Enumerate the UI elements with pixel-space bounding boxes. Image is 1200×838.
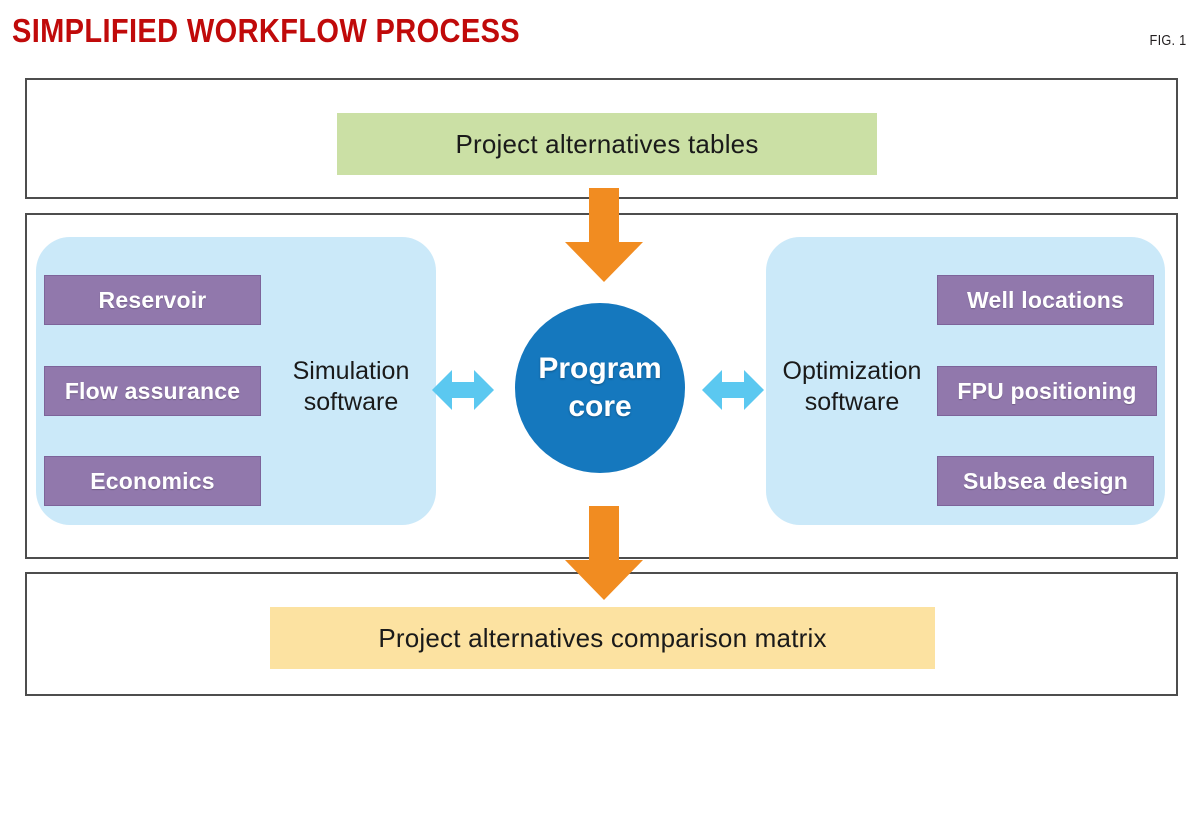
module-chip-subsea-design: Subsea design: [937, 456, 1154, 506]
module-chip-flow-assurance: Flow assurance: [44, 366, 261, 416]
down-arrow-input-to-core-icon: [565, 188, 643, 282]
program-core-node: Program core: [515, 303, 685, 473]
project-alternatives-comparison-matrix-box: Project alternatives comparison matrix: [270, 607, 935, 669]
down-arrow-core-to-output-icon: [565, 506, 643, 600]
project-alternatives-tables-box: Project alternatives tables: [337, 113, 877, 175]
module-chip-well-locations: Well locations: [937, 275, 1154, 325]
module-chip-fpu-positioning: FPU positioning: [937, 366, 1157, 416]
optimization-software-label: Optimization software: [766, 356, 938, 418]
double-arrow-core-optimization-icon: [702, 362, 764, 418]
module-chip-economics: Economics: [44, 456, 261, 506]
simulation-software-label: Simulation software: [266, 356, 436, 418]
module-chip-reservoir: Reservoir: [44, 275, 261, 325]
double-arrow-simulation-core-icon: [432, 362, 494, 418]
page-title: Simplified workflow process: [12, 12, 520, 50]
figure-number-label: FIG. 1: [1149, 32, 1186, 49]
